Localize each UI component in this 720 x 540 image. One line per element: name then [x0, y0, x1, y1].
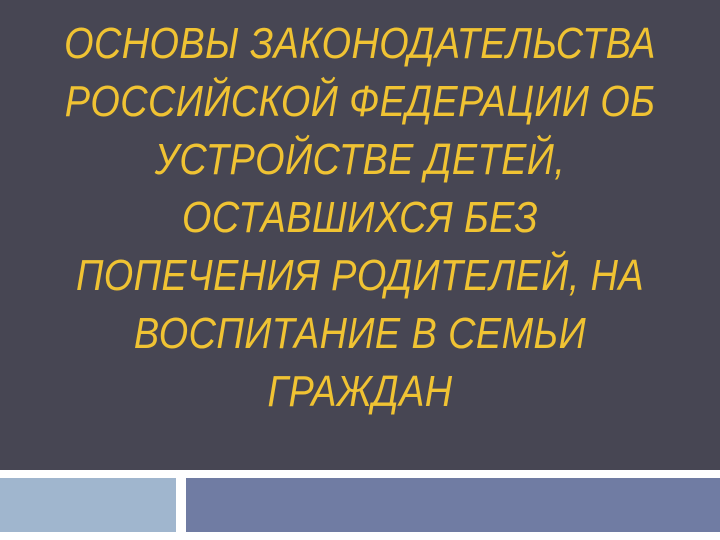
title-line-5: ПОПЕЧЕНИЯ РОДИТЕЛЕЙ, НА [57, 247, 662, 305]
presentation-slide: ОСНОВЫ ЗАКОНОДАТЕЛЬСТВА РОССИЙСКОЙ ФЕДЕР… [0, 0, 720, 540]
title-line-3: УСТРОЙСТВЕ ДЕТЕЙ, [57, 131, 662, 189]
title-line-1: ОСНОВЫ ЗАКОНОДАТЕЛЬСТВА [57, 15, 662, 73]
decorative-bottom-band [0, 478, 720, 532]
band-block-dark [186, 478, 720, 532]
title-line-7: ГРАЖДАН [57, 363, 662, 421]
slide-title: ОСНОВЫ ЗАКОНОДАТЕЛЬСТВА РОССИЙСКОЙ ФЕДЕР… [0, 13, 720, 419]
title-line-2: РОССИЙСКОЙ ФЕДЕРАЦИИ ОБ [57, 73, 662, 131]
title-panel: ОСНОВЫ ЗАКОНОДАТЕЛЬСТВА РОССИЙСКОЙ ФЕДЕР… [0, 0, 720, 470]
title-line-6: ВОСПИТАНИЕ В СЕМЬИ [57, 305, 662, 363]
band-block-light [0, 478, 176, 532]
title-line-4: ОСТАВШИХСЯ БЕЗ [57, 189, 662, 247]
